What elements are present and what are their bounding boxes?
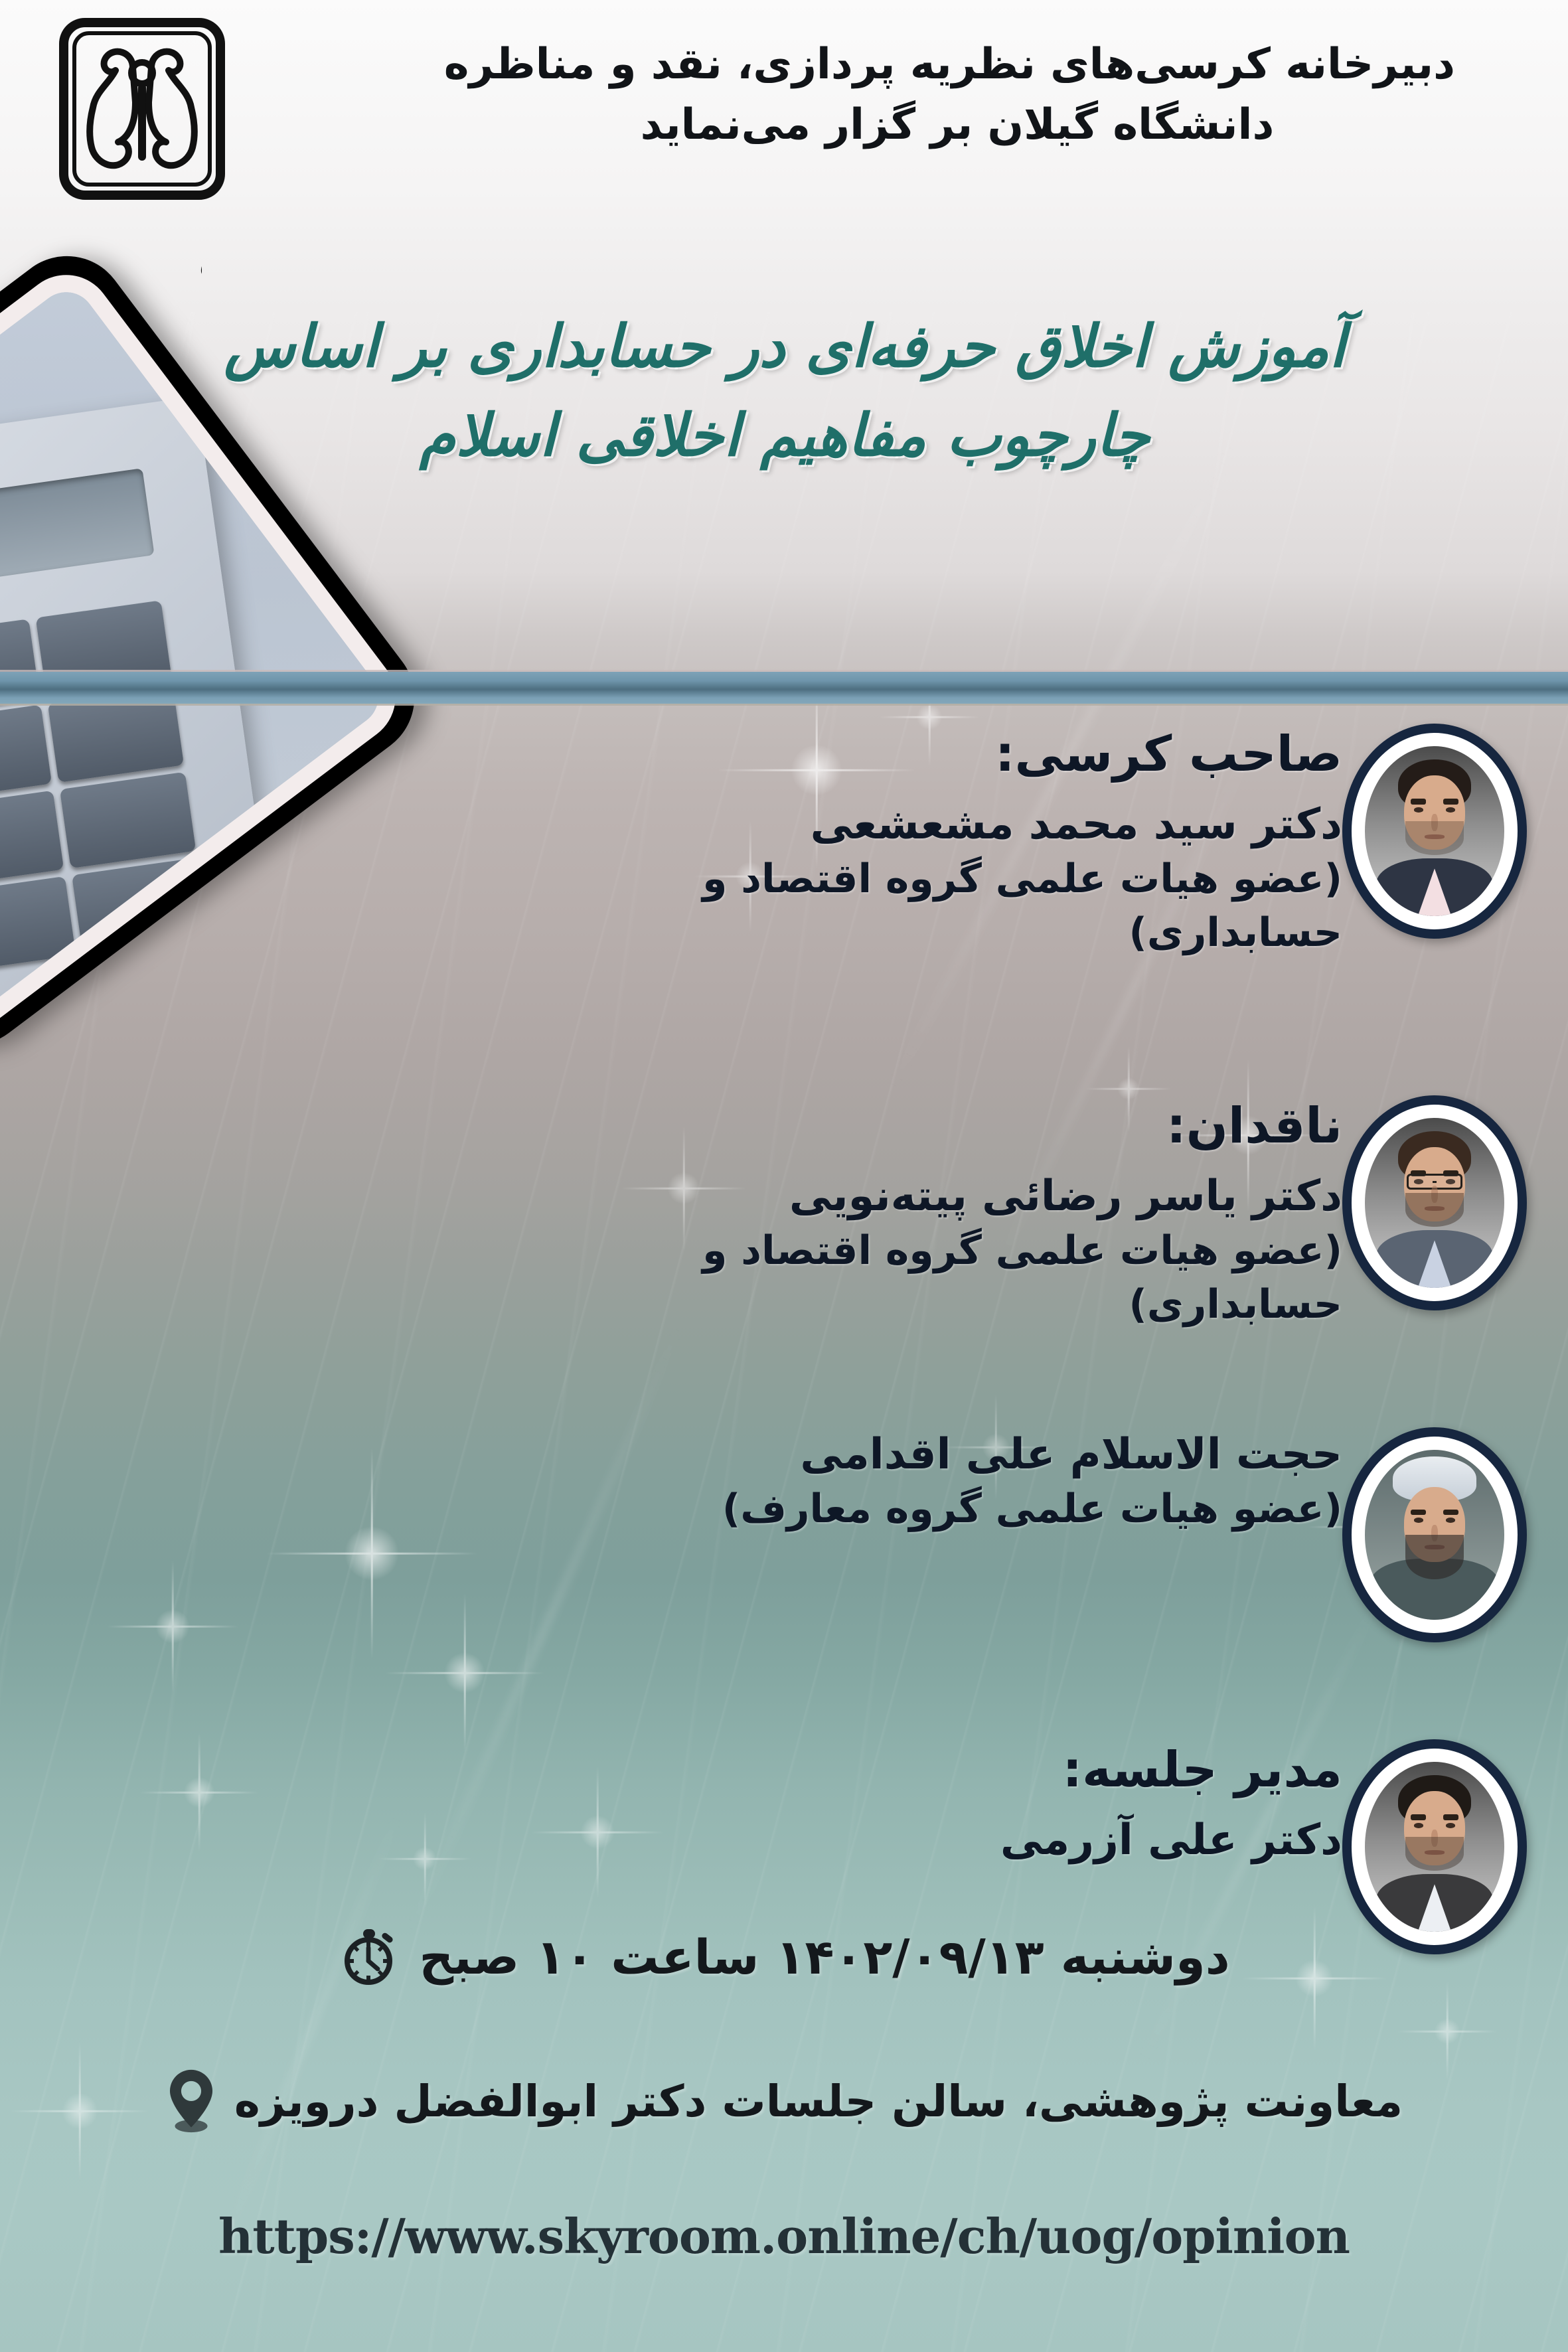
participant-affiliation: (عضو هیات علمی گروه اقتصاد و حسابداری) (575, 852, 1342, 960)
participants-section: صاحب کرسی: دکتر سید محمد مشعشعی (عضو هیا… (0, 724, 1568, 1852)
participant-name: دکتر یاسر رضائی پیته‌نویی (575, 1169, 1342, 1224)
organizer-line-2: دانشگاه گیلان بر گزار می‌نماید (459, 95, 1455, 155)
participant-affiliation: (عضو هیات علمی گروه معارف) (575, 1482, 1342, 1536)
title-line-1: آموزش اخلاق حرفه‌ای در حسابداری بر اساس (101, 302, 1468, 391)
avatar (1342, 1739, 1527, 1954)
participant-role: مدیر جلسه: (575, 1739, 1342, 1801)
event-location-row: معاونت پژوهشی، سالن جلسات دکتر ابوالفضل … (0, 2069, 1568, 2134)
stopwatch-icon (338, 1925, 402, 1989)
participant-session-manager: مدیر جلسه: دکتر علی آزرمی (544, 1739, 1527, 1954)
participant-chair-holder: صاحب کرسی: دکتر سید محمد مشعشعی (عضو هیا… (544, 724, 1527, 960)
avatar (1342, 724, 1527, 939)
event-footer: دوشنبه ۱۴۰۲/۰۹/۱۳ ساعت ۱۰ صبح معاونت پژو… (0, 1925, 1568, 2337)
event-location: معاونت پژوهشی، سالن جلسات دکتر ابوالفضل … (234, 2076, 1403, 2127)
title-line-2: چارچوب مفاهیم اخلاقی اسلام (101, 391, 1468, 480)
map-pin-icon (165, 2069, 217, 2134)
participant-name: دکتر علی آزرمی (575, 1813, 1342, 1868)
university-of-guilan-logo-icon (56, 15, 228, 214)
portrait-face (1365, 1762, 1504, 1932)
organizer-header: دبیرخانه کرسی‌های نظریه پردازی، نقد و من… (459, 35, 1455, 155)
avatar (1342, 1095, 1527, 1310)
logo-block: دانشگاه گیلان (29, 15, 228, 293)
section-divider-bar (0, 672, 1568, 704)
portrait-face (1365, 746, 1504, 916)
organizer-line-1: دبیرخانه کرسی‌های نظریه پردازی، نقد و من… (459, 35, 1455, 95)
participant-role: ناقدان: (575, 1095, 1342, 1157)
participant-role: صاحب کرسی: (575, 724, 1342, 785)
participant-name: دکتر سید محمد مشعشعی (575, 797, 1342, 852)
participant-name: حجت الاسلام علی اقدامی (575, 1427, 1342, 1482)
page-title: آموزش اخلاق حرفه‌ای در حسابداری بر اساس … (101, 302, 1468, 480)
portrait-face (1365, 1450, 1504, 1620)
avatar (1342, 1427, 1527, 1642)
registration-link[interactable]: https://www.skyroom.online/ch/uog/opinio… (0, 2208, 1568, 2264)
event-datetime: دوشنبه ۱۴۰۲/۰۹/۱۳ ساعت ۱۰ صبح (419, 1929, 1229, 1985)
event-poster: دانشگاه گیلان دبیرخانه کرسی‌های نظریه پر… (0, 0, 1568, 2352)
svg-text:دانشگاه گیلان: دانشگاه گیلان (198, 235, 202, 280)
participant-critic-1: ناقدان: دکتر یاسر رضائی پیته‌نویی (عضو ه… (544, 1095, 1527, 1332)
participant-affiliation: (عضو هیات علمی گروه اقتصاد و حسابداری) (575, 1224, 1342, 1332)
portrait-face (1365, 1118, 1504, 1288)
event-datetime-row: دوشنبه ۱۴۰۲/۰۹/۱۳ ساعت ۱۰ صبح (0, 1925, 1568, 1989)
participant-critic-2: حجت الاسلام علی اقدامی (عضو هیات علمی گر… (544, 1427, 1527, 1642)
